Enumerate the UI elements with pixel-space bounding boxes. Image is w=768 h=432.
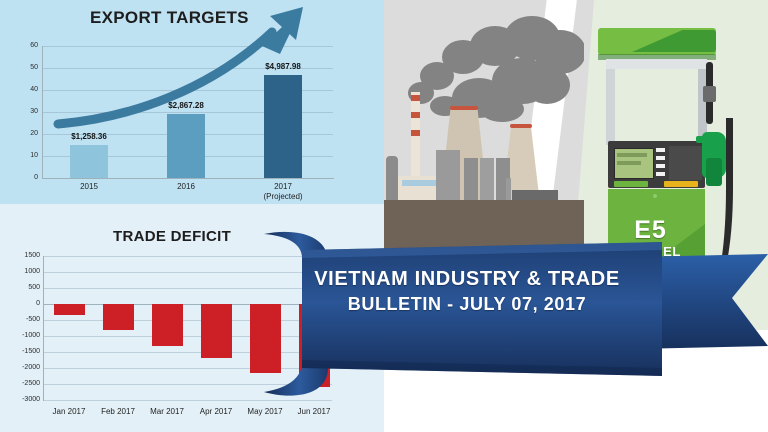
bulletin-ribbon-banner: VIETNAM INDUSTRY & TRADE BULLETIN - JULY… <box>262 228 768 400</box>
y-tick-label: 20 <box>12 130 38 137</box>
y-tick-label: 40 <box>12 86 38 93</box>
pump-grade-button-yellow[interactable] <box>664 181 698 187</box>
y-tick-label: -2000 <box>8 364 40 371</box>
x-tick-label-feb: Feb 2017 <box>93 407 143 416</box>
x-tick-label-jan: Jan 2017 <box>44 407 94 416</box>
y-tick-label: 0 <box>12 174 38 181</box>
y-tick-label: 1500 <box>8 252 40 259</box>
deficit-chart-title: TRADE DEFICIT <box>113 228 231 245</box>
bar-mar-2017 <box>152 304 183 346</box>
pump-hose-coupler <box>703 86 716 102</box>
export-targets-chart: EXPORT TARGETS 60 50 40 30 20 10 0 $1,25… <box>0 0 384 204</box>
bar-label-2016: $2,867.28 <box>156 101 216 110</box>
bar-feb-2017 <box>103 304 134 330</box>
cooling-tower-large-rim <box>450 106 478 110</box>
y-tick-label: 50 <box>12 64 38 71</box>
x-tick-label-2016: 2016 <box>161 182 211 191</box>
y-tick-label: -3000 <box>8 396 40 403</box>
plant-block <box>436 150 460 202</box>
pump-crossbar <box>606 59 707 69</box>
bar-label-2015: $1,258.36 <box>59 132 119 141</box>
bar-2017 <box>264 75 302 178</box>
x-tick-label-jun: Jun 2017 <box>289 407 339 416</box>
y-tick-label: -500 <box>8 316 40 323</box>
y-tick-label: 0 <box>8 300 40 307</box>
bar-label-2017: $4,987.98 <box>253 62 313 71</box>
plant-tower-block <box>480 158 494 202</box>
x-tick-label-2017: 2017 <box>258 182 308 191</box>
y-tick-label: -2500 <box>8 380 40 387</box>
plant-tower-block <box>464 158 478 202</box>
x-tick-label-may: May 2017 <box>240 407 290 416</box>
y-tick-label: 30 <box>12 108 38 115</box>
cooling-tower-small-rim <box>510 124 532 128</box>
pump-grade-button-green[interactable] <box>614 181 648 187</box>
bar-2016 <box>167 114 205 178</box>
pump-keypad-button[interactable] <box>656 148 665 152</box>
pump-post-left <box>606 59 615 145</box>
chimney-stripe <box>411 112 420 118</box>
x-tick-label-projected: (Projected) <box>255 192 311 201</box>
x-tick-label-mar: Mar 2017 <box>142 407 192 416</box>
pump-keypad-button[interactable] <box>656 156 665 160</box>
x-tick-label-apr: Apr 2017 <box>191 407 241 416</box>
y-tick-label: 60 <box>12 42 38 49</box>
deficit-y-axis <box>43 256 44 401</box>
smoke-puff <box>480 96 524 122</box>
smoke-puff <box>524 66 570 104</box>
y-tick-label: 10 <box>12 152 38 159</box>
banner-title-line2: BULLETIN - JULY 07, 2017 <box>302 294 632 315</box>
plant-pipe <box>506 178 511 202</box>
y-tick-label: -1000 <box>8 332 40 339</box>
y-tick-label: 1000 <box>8 268 40 275</box>
x-tick-label-2015: 2015 <box>64 182 114 191</box>
plant-tank <box>386 156 398 202</box>
pump-keypad-button[interactable] <box>656 172 665 176</box>
banner-title-line1: VIETNAM INDUSTRY & TRADE <box>302 268 632 291</box>
bar-apr-2017 <box>201 304 232 358</box>
bar-2015 <box>70 145 108 178</box>
chimney-stripe <box>411 130 420 136</box>
pump-display-row <box>617 161 641 165</box>
y-tick-label: 500 <box>8 284 40 291</box>
bar-jan-2017 <box>54 304 85 315</box>
pump-nozzle-grip <box>706 158 722 186</box>
y-tick-label: -1500 <box>8 348 40 355</box>
gridline <box>44 400 332 401</box>
pump-display-row <box>617 153 647 157</box>
infographic-canvas: E5 BIOFUEL EXPORT TARGETS 60 50 40 30 20… <box>0 0 768 432</box>
pump-nozzle-spout <box>696 136 708 143</box>
chimney-stripe <box>411 95 420 101</box>
pump-body-screw <box>653 194 657 198</box>
pump-keypad-button[interactable] <box>656 164 665 168</box>
export-x-axis <box>42 178 334 179</box>
